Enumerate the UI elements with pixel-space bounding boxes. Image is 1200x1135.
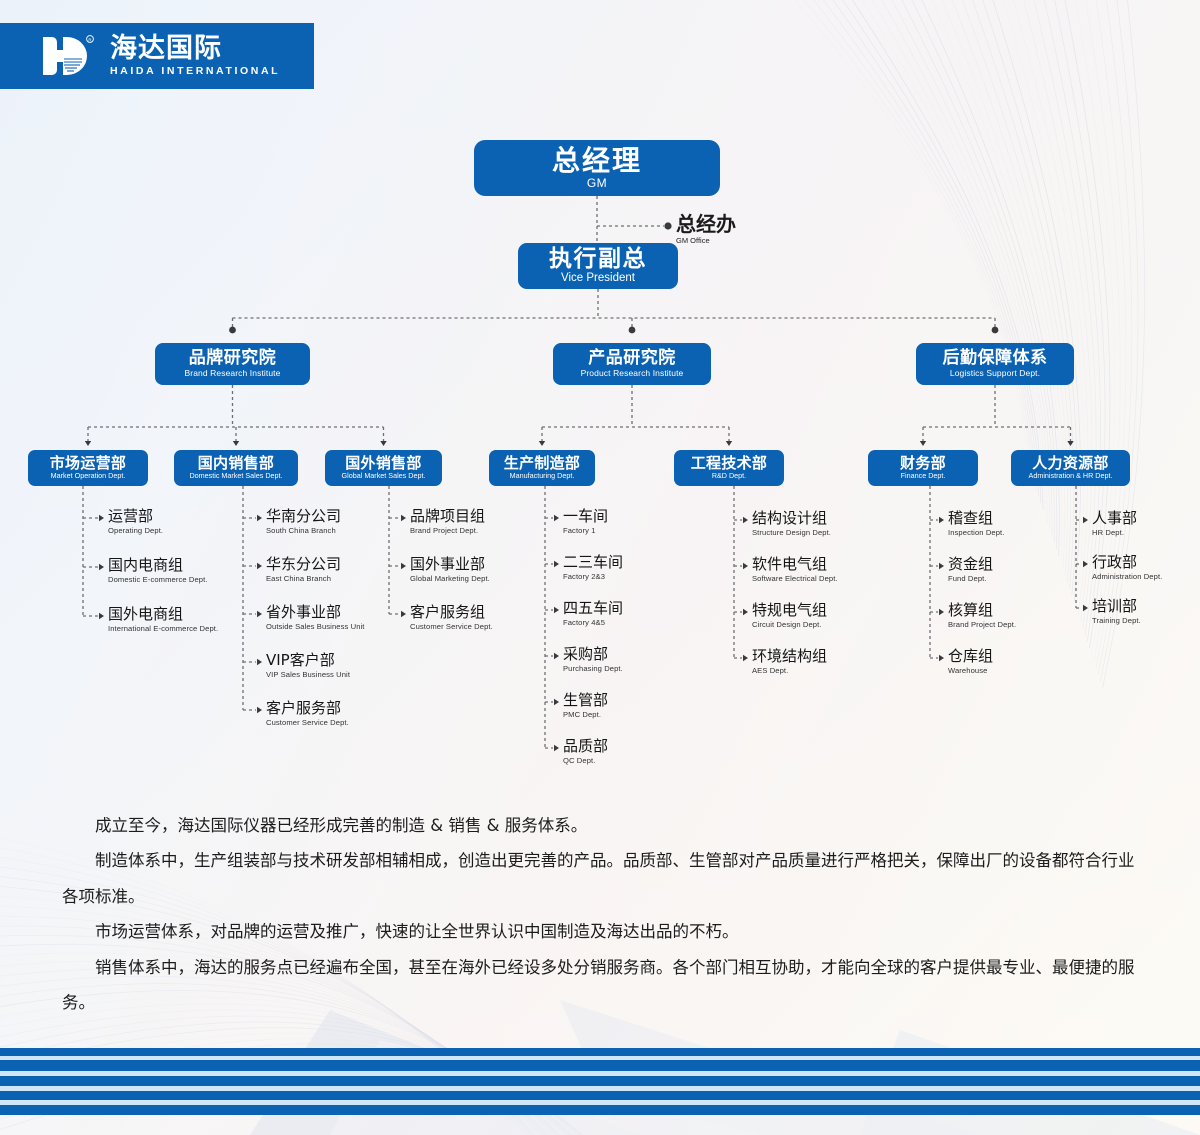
node-product-research-institute-label-en: Product Research Institute — [581, 369, 684, 378]
leaf-administration-hr-dept-1[interactable]: 人事部HR Dept. — [1092, 511, 1137, 537]
leaf-manufacturing-dept-3[interactable]: 四五车间Factory 4&5 — [563, 601, 623, 627]
leaf-rd-dept-3-label-en: Circuit Design Dept. — [752, 621, 827, 629]
leaf-domestic-market-sales-dept-2-label-cn: 华东分公司 — [266, 557, 341, 573]
leaf-global-market-sales-dept-2[interactable]: 国外事业部Global Marketing Dept. — [410, 557, 490, 583]
org-chart: 总经理GM执行副总Vice President总经办GM Office品牌研究院… — [0, 0, 1200, 800]
leaf-market-operation-dept-3-label-cn: 国外电商组 — [108, 607, 218, 623]
leaf-finance-dept-1[interactable]: 稽查组Inspection Dept. — [948, 511, 1004, 537]
leaf-finance-dept-3-label-en: Brand Project Dept. — [948, 621, 1016, 629]
node-global-market-sales-dept-label-en: Global Market Sales Dept. — [342, 472, 426, 480]
leaf-global-market-sales-dept-2-label-cn: 国外事业部 — [410, 557, 490, 573]
leaf-administration-hr-dept-1-label-en: HR Dept. — [1092, 529, 1137, 537]
node-vice-president[interactable]: 执行副总Vice President — [518, 243, 678, 289]
node-administration-hr-dept[interactable]: 人力资源部Administration & HR Dept. — [1011, 450, 1130, 486]
node-manufacturing-dept-label-cn: 生产制造部 — [504, 456, 581, 472]
bottom-bar-3 — [0, 1076, 1200, 1086]
leaf-finance-dept-3[interactable]: 核算组Brand Project Dept. — [948, 603, 1016, 629]
brand-header-bar: R 海达国际 HAIDA INTERNATIONAL — [0, 23, 314, 89]
node-product-research-institute[interactable]: 产品研究院Product Research Institute — [553, 343, 711, 385]
node-brand-research-institute-label-cn: 品牌研究院 — [189, 350, 277, 368]
leaf-global-market-sales-dept-3-label-cn: 客户服务组 — [410, 605, 493, 621]
leaf-domestic-market-sales-dept-5-label-en: Customer Service Dept. — [266, 719, 349, 727]
node-gm-label-en: GM — [587, 177, 607, 190]
leaf-manufacturing-dept-2[interactable]: 二三车间Factory 2&3 — [563, 555, 623, 581]
node-finance-dept-label-cn: 财务部 — [900, 456, 946, 472]
haida-h-logo-icon: R — [40, 34, 96, 78]
leaf-market-operation-dept-2-label-cn: 国内电商组 — [108, 558, 208, 574]
brand-name-cn: 海达国际 — [110, 35, 280, 62]
leaf-rd-dept-1[interactable]: 结构设计组Structure Design Dept. — [752, 511, 831, 537]
leaf-manufacturing-dept-4[interactable]: 采购部Purchasing Dept. — [563, 647, 623, 673]
node-global-market-sales-dept[interactable]: 国外销售部Global Market Sales Dept. — [325, 450, 442, 486]
node-manufacturing-dept-label-en: Manufacturing Dept. — [510, 472, 575, 480]
leaf-finance-dept-2-label-en: Fund Dept. — [948, 575, 993, 583]
bottom-bar-1 — [0, 1048, 1200, 1056]
leaf-manufacturing-dept-5-label-en: PMC Dept. — [563, 711, 608, 719]
node-gm-office-label-en: GM Office — [676, 236, 736, 245]
node-rd-dept-label-cn: 工程技术部 — [691, 456, 768, 472]
leaf-manufacturing-dept-6-label-en: QC Dept. — [563, 757, 608, 765]
leaf-rd-dept-1-label-en: Structure Design Dept. — [752, 529, 831, 537]
leaf-administration-hr-dept-2-label-en: Administration Dept. — [1092, 573, 1162, 581]
leaf-rd-dept-2-label-en: Software Electrical Dept. — [752, 575, 838, 583]
node-rd-dept[interactable]: 工程技术部R&D Dept. — [674, 450, 784, 486]
leaf-rd-dept-4-label-en: AES Dept. — [752, 667, 827, 675]
leaf-manufacturing-dept-3-label-cn: 四五车间 — [563, 601, 623, 617]
leaf-manufacturing-dept-6[interactable]: 品质部QC Dept. — [563, 739, 608, 765]
leaf-rd-dept-4[interactable]: 环境结构组AES Dept. — [752, 649, 827, 675]
leaf-manufacturing-dept-5-label-cn: 生管部 — [563, 693, 608, 709]
leaf-administration-hr-dept-3[interactable]: 培训部Training Dept. — [1092, 599, 1141, 625]
node-vice-president-label-en: Vice President — [561, 272, 635, 285]
node-domestic-market-sales-dept-label-cn: 国内销售部 — [198, 456, 275, 472]
node-logistics-support-dept-label-cn: 后勤保障体系 — [943, 350, 1048, 368]
leaf-finance-dept-4-label-cn: 仓库组 — [948, 649, 993, 665]
node-administration-hr-dept-label-en: Administration & HR Dept. — [1029, 472, 1113, 480]
leaf-manufacturing-dept-5[interactable]: 生管部PMC Dept. — [563, 693, 608, 719]
leaf-administration-hr-dept-1-label-cn: 人事部 — [1092, 511, 1137, 527]
node-administration-hr-dept-label-cn: 人力资源部 — [1032, 456, 1109, 472]
description-paragraph-4: 销售体系中，海达的服务点已经遍布全国，甚至在海外已经设多处分销服务商。各个部门相… — [62, 950, 1142, 1021]
leaf-global-market-sales-dept-1-label-en: Brand Project Dept. — [410, 527, 485, 535]
leaf-market-operation-dept-2-label-en: Domestic E-commerce Dept. — [108, 576, 208, 584]
leaf-global-market-sales-dept-2-label-en: Global Marketing Dept. — [410, 575, 490, 583]
leaf-rd-dept-4-label-cn: 环境结构组 — [752, 649, 827, 665]
bottom-bar-2 — [0, 1060, 1200, 1071]
leaf-rd-dept-1-label-cn: 结构设计组 — [752, 511, 831, 527]
leaf-domestic-market-sales-dept-5-label-cn: 客户服务部 — [266, 701, 349, 717]
leaf-finance-dept-1-label-en: Inspection Dept. — [948, 529, 1004, 537]
description-paragraph-2: 制造体系中，生产组装部与技术研发部相辅相成，创造出更完善的产品。品质部、生管部对… — [62, 843, 1142, 914]
leaf-global-market-sales-dept-3-label-en: Customer Service Dept. — [410, 623, 493, 631]
leaf-market-operation-dept-1-label-en: Operating Dept. — [108, 527, 163, 535]
leaf-market-operation-dept-2[interactable]: 国内电商组Domestic E-commerce Dept. — [108, 558, 208, 584]
node-brand-research-institute[interactable]: 品牌研究院Brand Research Institute — [155, 343, 310, 385]
leaf-finance-dept-4[interactable]: 仓库组Warehouse — [948, 649, 993, 675]
leaf-domestic-market-sales-dept-2-label-en: East China Branch — [266, 575, 341, 583]
description-paragraph-1: 成立至今，海达国际仪器已经形成完善的制造 & 销售 & 服务体系。 — [62, 808, 1142, 843]
node-brand-research-institute-label-en: Brand Research Institute — [185, 369, 281, 378]
leaf-manufacturing-dept-2-label-en: Factory 2&3 — [563, 573, 623, 581]
leaf-manufacturing-dept-1[interactable]: 一车间Factory 1 — [563, 509, 608, 535]
leaf-rd-dept-3-label-cn: 特规电气组 — [752, 603, 827, 619]
leaf-finance-dept-2-label-cn: 资金组 — [948, 557, 993, 573]
leaf-finance-dept-1-label-cn: 稽查组 — [948, 511, 1004, 527]
leaf-manufacturing-dept-2-label-cn: 二三车间 — [563, 555, 623, 571]
node-manufacturing-dept[interactable]: 生产制造部Manufacturing Dept. — [489, 450, 595, 486]
node-domestic-market-sales-dept[interactable]: 国内销售部Domestic Market Sales Dept. — [174, 450, 298, 486]
node-market-operation-dept-label-cn: 市场运营部 — [50, 456, 127, 472]
leaf-manufacturing-dept-1-label-en: Factory 1 — [563, 527, 608, 535]
leaf-domestic-market-sales-dept-4-label-cn: VIP客户部 — [266, 653, 350, 669]
node-finance-dept[interactable]: 财务部Finance Dept. — [868, 450, 978, 486]
leaf-finance-dept-2[interactable]: 资金组Fund Dept. — [948, 557, 993, 583]
leaf-domestic-market-sales-dept-2[interactable]: 华东分公司East China Branch — [266, 557, 341, 583]
leaf-administration-hr-dept-2-label-cn: 行政部 — [1092, 555, 1162, 571]
leaf-domestic-market-sales-dept-5[interactable]: 客户服务部Customer Service Dept. — [266, 701, 349, 727]
leaf-manufacturing-dept-3-label-en: Factory 4&5 — [563, 619, 623, 627]
bottom-bar-5 — [0, 1105, 1200, 1115]
bottom-bar-4 — [0, 1091, 1200, 1100]
description-paragraph-3: 市场运营体系，对品牌的运营及推广，快速的让全世界认识中国制造及海达出品的不朽。 — [62, 914, 1142, 949]
svg-text:R: R — [88, 38, 91, 43]
node-gm-label-cn: 总经理 — [552, 146, 642, 175]
leaf-domestic-market-sales-dept-3-label-en: Outside Sales Business Unit — [266, 623, 365, 631]
leaf-manufacturing-dept-4-label-cn: 采购部 — [563, 647, 623, 663]
leaf-domestic-market-sales-dept-1-label-cn: 华南分公司 — [266, 509, 341, 525]
node-logistics-support-dept[interactable]: 后勤保障体系Logistics Support Dept. — [916, 343, 1074, 385]
node-domestic-market-sales-dept-label-en: Domestic Market Sales Dept. — [189, 472, 282, 480]
leaf-domestic-market-sales-dept-4[interactable]: VIP客户部VIP Sales Business Unit — [266, 653, 350, 679]
leaf-finance-dept-3-label-cn: 核算组 — [948, 603, 1016, 619]
leaf-rd-dept-2-label-cn: 软件电气组 — [752, 557, 838, 573]
node-market-operation-dept[interactable]: 市场运营部Market Operation Dept. — [28, 450, 148, 486]
leaf-administration-hr-dept-2[interactable]: 行政部Administration Dept. — [1092, 555, 1162, 581]
leaf-manufacturing-dept-6-label-cn: 品质部 — [563, 739, 608, 755]
node-global-market-sales-dept-label-cn: 国外销售部 — [345, 456, 422, 472]
node-gm[interactable]: 总经理GM — [474, 140, 720, 196]
leaf-manufacturing-dept-1-label-cn: 一车间 — [563, 509, 608, 525]
node-rd-dept-label-en: R&D Dept. — [712, 472, 746, 480]
leaf-finance-dept-4-label-en: Warehouse — [948, 667, 993, 675]
leaf-global-market-sales-dept-1[interactable]: 品牌项目组Brand Project Dept. — [410, 509, 485, 535]
leaf-market-operation-dept-1-label-cn: 运营部 — [108, 509, 163, 525]
leaf-administration-hr-dept-3-label-en: Training Dept. — [1092, 617, 1141, 625]
leaf-market-operation-dept-1[interactable]: 运营部Operating Dept. — [108, 509, 163, 535]
node-vice-president-label-cn: 执行副总 — [549, 247, 647, 271]
bottom-decorative-bars — [0, 1030, 1200, 1135]
leaf-rd-dept-3[interactable]: 特规电气组Circuit Design Dept. — [752, 603, 827, 629]
leaf-domestic-market-sales-dept-3-label-cn: 省外事业部 — [266, 605, 365, 621]
node-logistics-support-dept-label-en: Logistics Support Dept. — [950, 369, 1040, 378]
leaf-manufacturing-dept-4-label-en: Purchasing Dept. — [563, 665, 623, 673]
node-finance-dept-label-en: Finance Dept. — [901, 472, 946, 480]
leaf-domestic-market-sales-dept-1[interactable]: 华南分公司South China Branch — [266, 509, 341, 535]
leaf-market-operation-dept-3[interactable]: 国外电商组International E-commerce Dept. — [108, 607, 218, 633]
leaf-market-operation-dept-3-label-en: International E-commerce Dept. — [108, 625, 218, 633]
leaf-global-market-sales-dept-1-label-cn: 品牌项目组 — [410, 509, 485, 525]
node-product-research-institute-label-cn: 产品研究院 — [588, 350, 676, 368]
leaf-domestic-market-sales-dept-4-label-en: VIP Sales Business Unit — [266, 671, 350, 679]
brand-name-en: HAIDA INTERNATIONAL — [110, 65, 280, 77]
leaf-domestic-market-sales-dept-1-label-en: South China Branch — [266, 527, 341, 535]
node-market-operation-dept-label-en: Market Operation Dept. — [51, 472, 126, 480]
leaf-global-market-sales-dept-3[interactable]: 客户服务组Customer Service Dept. — [410, 605, 493, 631]
leaf-rd-dept-2[interactable]: 软件电气组Software Electrical Dept. — [752, 557, 838, 583]
leaf-administration-hr-dept-3-label-cn: 培训部 — [1092, 599, 1141, 615]
node-gm-office[interactable]: 总经办GM Office — [676, 214, 736, 245]
node-gm-office-label-cn: 总经办 — [676, 214, 736, 235]
leaf-domestic-market-sales-dept-3[interactable]: 省外事业部Outside Sales Business Unit — [266, 605, 365, 631]
description-paragraphs: 成立至今，海达国际仪器已经形成完善的制造 & 销售 & 服务体系。制造体系中，生… — [62, 808, 1142, 1021]
